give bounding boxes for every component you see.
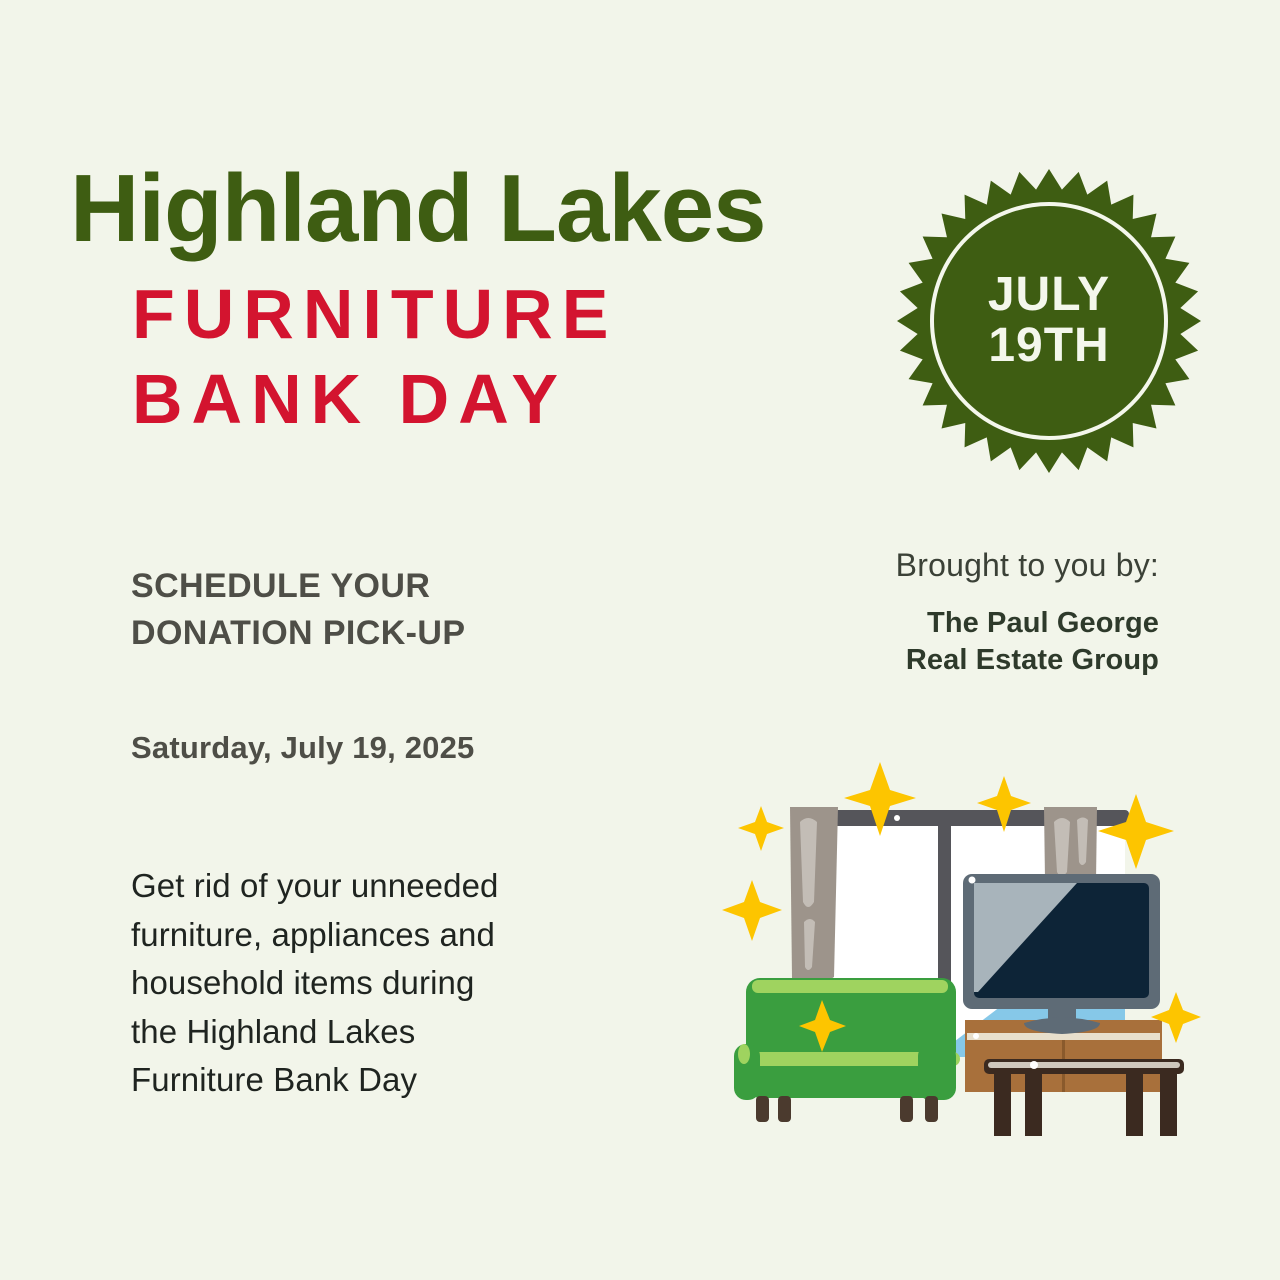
body-line-2: furniture, appliances and — [131, 911, 651, 960]
sparkle-left-lower — [722, 880, 782, 941]
sofa-leg-4 — [925, 1096, 938, 1122]
body-line-1: Get rid of your unneeded — [131, 862, 651, 911]
living-room-icon — [722, 752, 1204, 1156]
bench-leg-3 — [1126, 1074, 1143, 1136]
sofa-arm-right — [918, 1044, 956, 1100]
sponsor-name-line-1: The Paul George — [896, 605, 1159, 642]
page-subtitle: FURNITURE BANK DAY — [132, 272, 766, 443]
body-line-5: Furniture Bank Day — [131, 1056, 651, 1105]
body-paragraph: Get rid of your unneeded furniture, appl… — [131, 862, 651, 1105]
event-date: Saturday, July 19, 2025 — [131, 730, 475, 766]
living-room-illustration — [722, 752, 1204, 1156]
sponsor-block: Brought to you by: The Paul George Real … — [896, 545, 1159, 679]
bench — [984, 1059, 1184, 1136]
bench-highlight — [1030, 1061, 1038, 1069]
sofa-arm-highlight — [738, 1044, 750, 1064]
date-badge: JULY 19TH — [894, 166, 1204, 476]
bench-leg-1 — [994, 1074, 1011, 1136]
bench-top-edge — [988, 1062, 1180, 1068]
page-title: Highland Lakes — [70, 162, 766, 256]
body-line-3: household items during — [131, 959, 651, 1008]
page-subtitle-line-1: FURNITURE — [132, 272, 766, 357]
sofa-leg-2 — [778, 1096, 791, 1122]
call-to-action-heading: SCHEDULE YOUR DONATION PICK-UP — [131, 563, 465, 657]
sparkle-left-upper — [738, 806, 784, 851]
starburst-badge-icon — [894, 166, 1204, 476]
sponsor-name: The Paul George Real Estate Group — [896, 605, 1159, 679]
bench-leg-2 — [1025, 1074, 1042, 1136]
headline-block: Highland Lakes FURNITURE BANK DAY — [70, 162, 766, 443]
page-subtitle-line-2: BANK DAY — [132, 357, 766, 442]
body-line-4: the Highland Lakes — [131, 1008, 651, 1057]
sofa-back-top — [752, 980, 948, 993]
cta-heading-line-1: SCHEDULE YOUR — [131, 563, 465, 610]
window-frame-highlight — [894, 815, 900, 821]
tv-stand-knob — [973, 1033, 979, 1039]
tv-corner-highlight — [969, 877, 976, 884]
poster-canvas: Highland Lakes FURNITURE BANK DAY JULY 1… — [0, 0, 1280, 1280]
bench-leg-4 — [1160, 1074, 1177, 1136]
sofa-leg-3 — [900, 1096, 913, 1122]
sponsor-lead-text: Brought to you by: — [896, 545, 1159, 585]
sofa — [734, 978, 960, 1122]
sofa-leg-1 — [756, 1096, 769, 1122]
tv-stand-edge — [967, 1033, 1160, 1040]
sponsor-name-line-2: Real Estate Group — [896, 642, 1159, 679]
cta-heading-line-2: DONATION PICK-UP — [131, 610, 465, 657]
